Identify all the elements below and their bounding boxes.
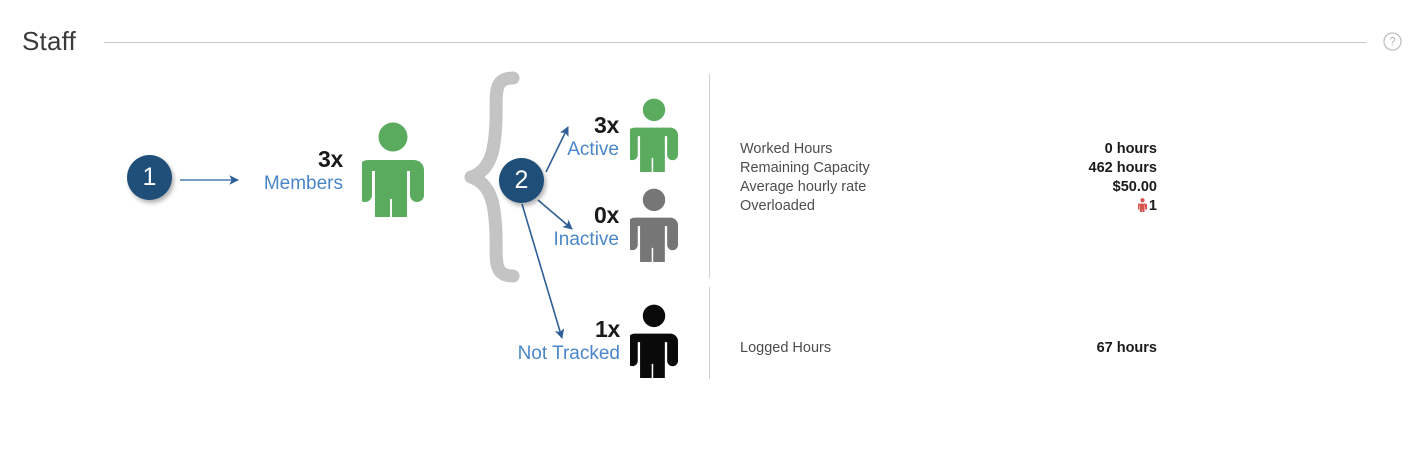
- person-icon: [630, 98, 678, 177]
- active-label[interactable]: Active: [480, 138, 619, 161]
- nottracked-summary: 1x Not Tracked: [450, 317, 620, 365]
- members-label[interactable]: Members: [180, 172, 343, 195]
- members-summary: 3x Members: [180, 147, 343, 195]
- stat-row: Worked Hours 0 hours: [740, 140, 1157, 159]
- members-count: 3x: [180, 147, 343, 172]
- stat-label: Worked Hours: [740, 140, 832, 159]
- active-summary: 3x Active: [480, 113, 619, 161]
- panel-divider-bottom: [709, 287, 710, 379]
- stat-label: Remaining Capacity: [740, 159, 870, 178]
- stat-row: Logged Hours 67 hours: [740, 339, 1157, 358]
- stat-label: Logged Hours: [740, 339, 831, 358]
- step-badge-1[interactable]: 1: [127, 155, 172, 200]
- diagram-connectors: [0, 0, 1422, 449]
- person-icon: [1138, 198, 1147, 212]
- stat-row: Average hourly rate $50.00: [740, 178, 1157, 197]
- staff-stats-primary: Worked Hours 0 hours Remaining Capacity …: [740, 140, 1157, 216]
- stat-value: $50.00: [1113, 178, 1157, 197]
- overloaded-count: 1: [1149, 198, 1157, 214]
- stat-label: Average hourly rate: [740, 178, 866, 197]
- stat-value: 1: [1138, 197, 1157, 216]
- staff-stats-secondary: Logged Hours 67 hours: [740, 339, 1157, 358]
- step-badge-2[interactable]: 2: [499, 158, 544, 203]
- inactive-count: 0x: [480, 203, 619, 228]
- inactive-summary: 0x Inactive: [480, 203, 619, 251]
- panel-divider-top: [709, 74, 710, 278]
- nottracked-label[interactable]: Not Tracked: [450, 342, 620, 365]
- nottracked-count: 1x: [450, 317, 620, 342]
- inactive-label[interactable]: Inactive: [480, 228, 619, 251]
- person-icon: [630, 304, 678, 383]
- person-icon: [630, 188, 678, 267]
- staff-breakdown-diagram: 1 3x Members 2 3x Active 0x Inactive: [0, 0, 1422, 449]
- stat-row: Remaining Capacity 462 hours: [740, 159, 1157, 178]
- stat-value: 67 hours: [1097, 339, 1157, 358]
- active-count: 3x: [480, 113, 619, 138]
- stat-value: 462 hours: [1089, 159, 1158, 178]
- person-icon: [362, 122, 424, 222]
- stat-label: Overloaded: [740, 197, 815, 216]
- stat-value: 0 hours: [1105, 140, 1157, 159]
- stat-row-overloaded: Overloaded 1: [740, 197, 1157, 216]
